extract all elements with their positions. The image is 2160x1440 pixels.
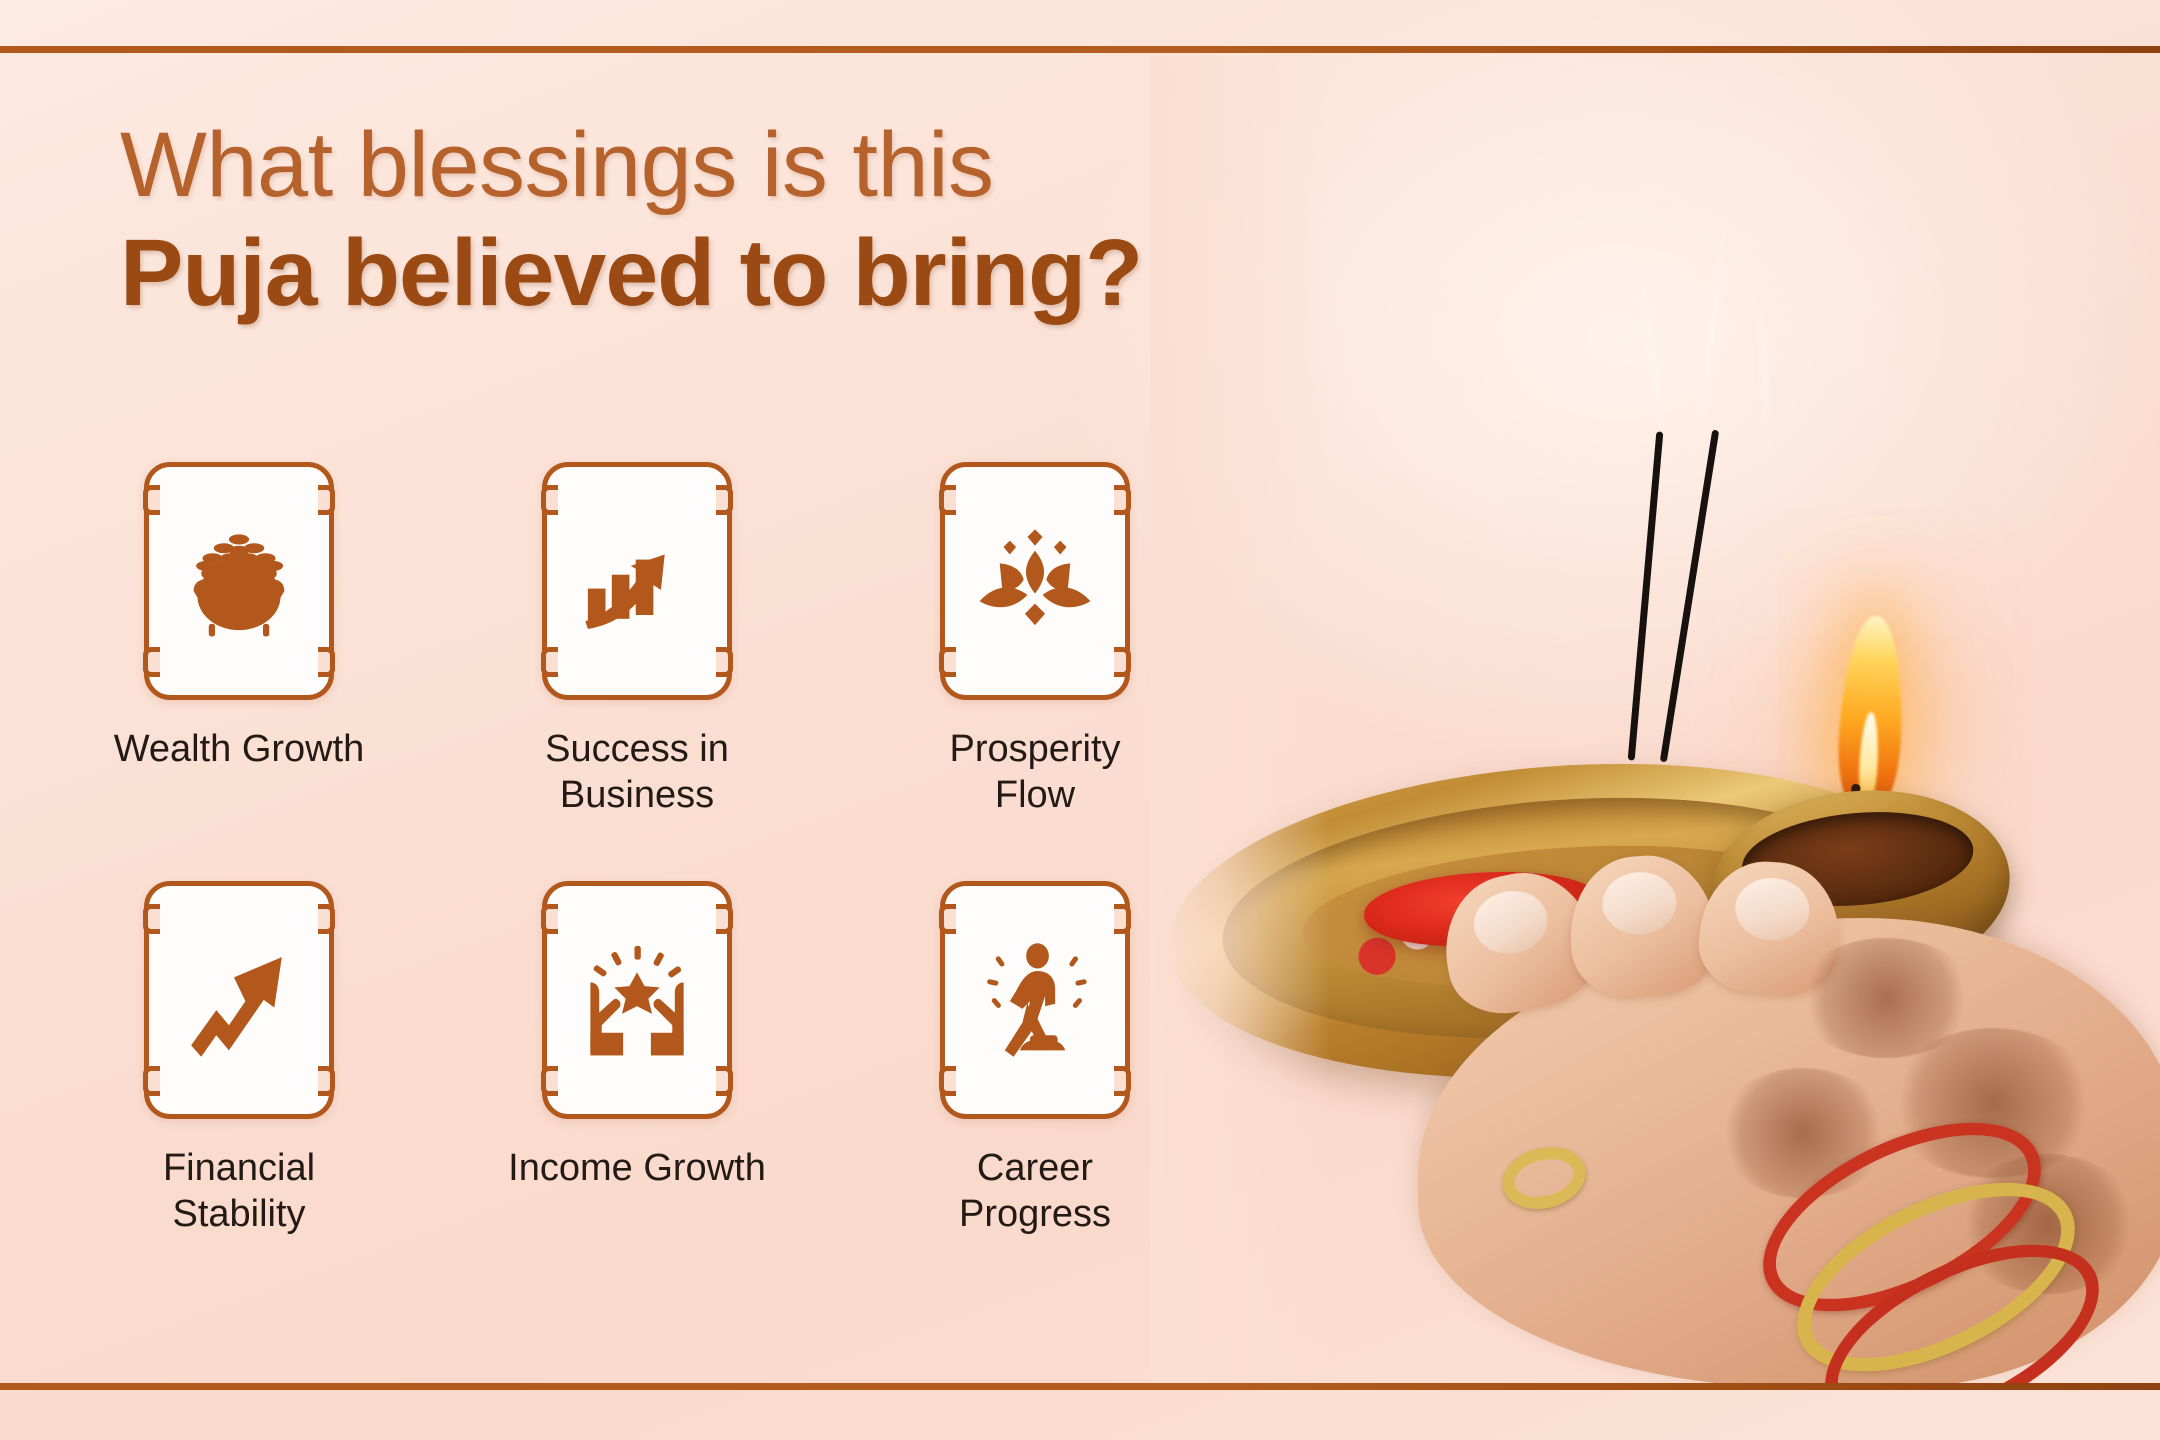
benefits-row-1: Wealth Growth Success in Business: [104, 462, 1234, 819]
incense-stick: [1660, 430, 1719, 763]
benefit-icon-card: [542, 881, 732, 1119]
benefit-label: Income Growth: [508, 1145, 766, 1191]
lotus-flower-icon: [972, 518, 1098, 644]
bottom-divider-rule: [0, 1383, 2160, 1390]
benefit-label: Financial Stability: [109, 1145, 369, 1238]
fingernail: [1733, 876, 1811, 943]
benefit-item-success-in-business[interactable]: Success in Business: [502, 462, 772, 819]
growth-bar-chart-arrow-icon: [574, 518, 700, 644]
benefit-icon-card: [144, 881, 334, 1119]
benefit-item-wealth-growth[interactable]: Wealth Growth: [104, 462, 374, 819]
zigzag-up-arrow-icon: [176, 937, 302, 1063]
incense-smoke-wisp: [1695, 205, 1729, 454]
benefit-icon-card: [542, 462, 732, 700]
page-title: What blessings is this Puja believed to …: [120, 118, 1380, 326]
heading-line-2: Puja believed to bring?: [120, 220, 1380, 326]
benefit-item-income-growth[interactable]: Income Growth: [502, 881, 772, 1238]
heading-line-1: What blessings is this: [120, 118, 1380, 214]
fingernail: [1600, 870, 1678, 937]
poster-canvas: What blessings is this Puja believed to …: [0, 0, 2160, 1440]
benefit-item-financial-stability[interactable]: Financial Stability: [104, 881, 374, 1238]
top-divider-rule: [0, 46, 2160, 53]
benefit-label: Career Progress: [905, 1145, 1165, 1238]
incense-smoke-wisp: [1633, 245, 1666, 454]
benefits-row-2: Financial Stability: [104, 881, 1234, 1238]
benefit-label: Wealth Growth: [114, 726, 365, 772]
person-on-podium-icon: [972, 937, 1098, 1063]
benefit-label: Success in Business: [507, 726, 767, 819]
benefit-item-prosperity-flow[interactable]: Prosperity Flow: [900, 462, 1170, 819]
benefit-icon-card: [940, 881, 1130, 1119]
incense-stick: [1628, 431, 1664, 760]
benefit-label: Prosperity Flow: [905, 726, 1165, 819]
diya-flame: [1835, 615, 1907, 818]
hands-holding-star-icon: [574, 937, 700, 1063]
pot-of-gold-icon: [176, 518, 302, 644]
incense-smoke-wisp: [1756, 288, 1772, 458]
benefit-item-career-progress[interactable]: Career Progress: [900, 881, 1170, 1238]
benefit-icon-card: [144, 462, 334, 700]
benefit-icon-card: [940, 462, 1130, 700]
fingernail: [1468, 884, 1553, 960]
benefits-grid: Wealth Growth Success in Business: [104, 462, 1234, 1237]
